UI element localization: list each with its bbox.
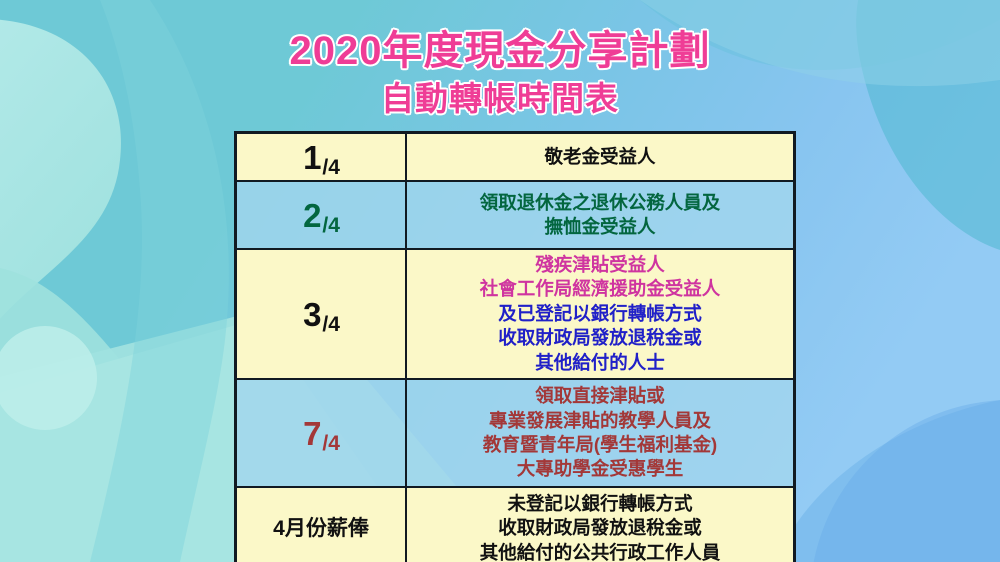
date-denominator: /4 [322, 313, 340, 336]
description-line: 領取直接津貼或 [411, 384, 789, 408]
date-number: 2 [303, 197, 321, 234]
table-row: 4月份薪俸 未登記以銀行轉帳方式 收取財政局發放退稅金或 其他給付的公共行政工作… [236, 487, 795, 562]
schedule-table: 1/4 敬老金受益人 2/4 領取退休金之退休公務人員及 撫恤金受益人 [234, 131, 796, 562]
description-line: 收取財政局發放退稅金或 [411, 326, 789, 350]
date-cell: 2/4 [236, 181, 407, 249]
date-cell: 7/4 [236, 379, 407, 487]
description-line: 收取財政局發放退稅金或 [411, 516, 789, 540]
schedule-table-body: 1/4 敬老金受益人 2/4 領取退休金之退休公務人員及 撫恤金受益人 [236, 133, 795, 562]
date-number: 7 [303, 415, 321, 452]
description-cell: 未登記以銀行轉帳方式 收取財政局發放退稅金或 其他給付的公共行政工作人員 [406, 487, 795, 562]
table-row: 1/4 敬老金受益人 [236, 133, 795, 182]
description-cell: 殘疾津貼受益人 社會工作局經濟援助金受益人 及已登記以銀行轉帳方式 收取財政局發… [406, 249, 795, 379]
description-line: 撫恤金受益人 [411, 215, 789, 239]
description-line: 大專助學金受惠學生 [411, 457, 789, 481]
description-line: 及已登記以銀行轉帳方式 [411, 302, 789, 326]
description-line: 教育暨青年局(學生福利基金) [411, 433, 789, 457]
page-title: 2020年度現金分享計劃 [0, 30, 1000, 73]
description-line: 其他給付的人士 [411, 351, 789, 375]
date-cell: 3/4 [236, 249, 407, 379]
date-number: 3 [303, 296, 321, 333]
poster-heading: 2020年度現金分享計劃 自動轉帳時間表 [0, 30, 1000, 117]
description-line: 領取退休金之退休公務人員及 [411, 191, 789, 215]
table-row: 2/4 領取退休金之退休公務人員及 撫恤金受益人 [236, 181, 795, 249]
date-cell: 1/4 [236, 133, 407, 182]
date-denominator: /4 [322, 432, 340, 455]
date-denominator: /4 [322, 214, 340, 237]
description-line: 社會工作局經濟援助金受益人 [411, 277, 789, 301]
description-line: 未登記以銀行轉帳方式 [411, 492, 789, 516]
date-number: 1 [303, 139, 321, 176]
date-cell: 4月份薪俸 [236, 487, 407, 562]
table-row: 7/4 領取直接津貼或 專業發展津貼的教學人員及 教育暨青年局(學生福利基金) … [236, 379, 795, 487]
schedule-table-wrapper: 1/4 敬老金受益人 2/4 領取退休金之退休公務人員及 撫恤金受益人 [234, 131, 772, 562]
description-line: 殘疾津貼受益人 [411, 253, 789, 277]
description-line: 敬老金受益人 [411, 145, 789, 169]
page-subtitle: 自動轉帳時間表 [0, 81, 1000, 117]
date-denominator: /4 [322, 156, 340, 179]
description-line: 專業發展津貼的教學人員及 [411, 409, 789, 433]
description-line: 其他給付的公共行政工作人員 [411, 541, 789, 562]
table-row: 3/4 殘疾津貼受益人 社會工作局經濟援助金受益人 及已登記以銀行轉帳方式 收取… [236, 249, 795, 379]
date-label: 4月份薪俸 [273, 517, 369, 540]
description-cell: 敬老金受益人 [406, 133, 795, 182]
description-cell: 領取退休金之退休公務人員及 撫恤金受益人 [406, 181, 795, 249]
description-cell: 領取直接津貼或 專業發展津貼的教學人員及 教育暨青年局(學生福利基金) 大專助學… [406, 379, 795, 487]
poster-canvas: 2020年度現金分享計劃 自動轉帳時間表 1/4 敬老金受益人 2/4 [0, 0, 1000, 562]
